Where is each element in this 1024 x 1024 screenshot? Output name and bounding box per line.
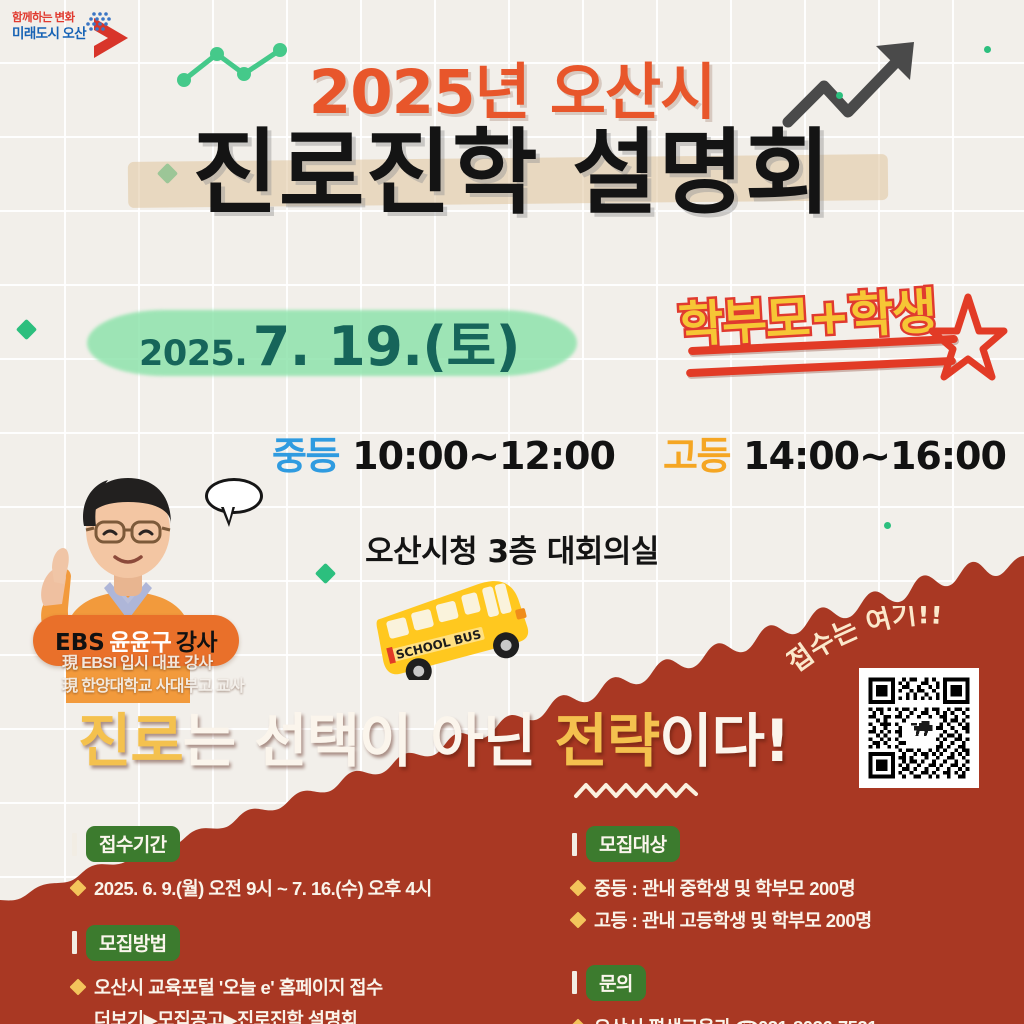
logo-tagline-2: 미래도시 오산 <box>12 26 86 42</box>
section-chip-label: 모집대상 <box>586 826 680 862</box>
session-high-school: 고등 14:00~16:00 <box>663 437 1006 475</box>
section-accent-bar <box>572 833 577 856</box>
lecturer-credential-line: 現 EBSI 입시 대표 강사 <box>62 652 244 675</box>
slogan-part-4: 이다! <box>659 707 789 775</box>
info-contact-text: 오산시 평생교육과 ☎031-8036-7531 <box>594 1014 877 1024</box>
info-column-left: 접수기간 2025. 6. 9.(월) 오전 9시 ~ 7. 16.(수) 오후… <box>72 826 542 1024</box>
lecturer-credential-line: 現 한양대학교 사대부고 교사 <box>62 675 244 698</box>
info-bullet-row: 2025. 6. 9.(월) 오전 9시 ~ 7. 16.(수) 오후 4시 <box>72 875 542 903</box>
date-month-day: 7. 19.(토) <box>253 315 520 378</box>
info-bullet-row: 오산시 교육포털 '오늘 e' 홈페이지 접수 <box>72 974 542 1002</box>
info-bullet-row: 고등 : 관내 고등학생 및 학부모 200명 <box>572 907 1012 935</box>
qr-call-to-action: 접수는 여기!! <box>786 606 1006 674</box>
section-header-registration-period: 접수기간 <box>72 826 542 862</box>
poster-title-block: 2025년 오산시 진로진학 설명회 <box>0 62 1024 222</box>
audience-badge: 학부모+학생 <box>666 275 996 390</box>
session-time-value: 14:00~16:00 <box>743 434 1006 478</box>
section-chip-label: 모집방법 <box>86 925 180 961</box>
title-main-line: 진로진학 설명회 <box>0 126 1024 222</box>
diamond-bullet-icon <box>70 978 87 995</box>
dinosaur-icon <box>906 719 936 741</box>
badge-underline <box>686 357 956 377</box>
slogan-part-3: 전략 <box>554 707 659 775</box>
info-column-right: 모집대상 중등 : 관내 중학생 및 학부모 200명 고등 : 관내 고등학생… <box>572 826 1012 1024</box>
section-header-application-method: 모집방법 <box>72 925 542 961</box>
section-chip-label: 문의 <box>586 965 646 1001</box>
squiggle-underline-decoration <box>573 780 703 802</box>
section-header-target-audience: 모집대상 <box>572 826 1012 862</box>
info-bullet-text: 중등 : 관내 중학생 및 학부모 200명 <box>594 875 855 903</box>
diamond-bullet-icon <box>70 880 87 897</box>
session-level-label: 고등 <box>663 434 730 478</box>
green-dot-decoration <box>984 46 991 53</box>
logo-tagline-1: 함께하는 변화 <box>12 12 86 26</box>
section-accent-bar <box>72 833 77 856</box>
info-bullet-text: 오산시 교육포털 '오늘 e' 홈페이지 접수 <box>94 974 383 1002</box>
date-year: 2025. <box>139 334 247 374</box>
venue-text: 오산시청 3층 대회의실 <box>0 526 1024 571</box>
info-bullet-text: 2025. 6. 9.(월) 오전 9시 ~ 7. 16.(수) 오후 4시 <box>94 875 432 903</box>
event-date: 2025. 7. 19.(토) <box>105 302 526 386</box>
session-time-value: 10:00~12:00 <box>352 434 615 478</box>
diamond-bullet-icon <box>570 880 587 897</box>
speech-bubble-icon <box>205 478 263 514</box>
slogan-part-1: 진로 <box>78 707 183 775</box>
event-poster: 함께하는 변화 미래도시 오산 2025년 오산시 진로진학 설명회 2025.… <box>0 0 1024 1024</box>
section-accent-bar <box>572 971 577 994</box>
info-bullet-text: 고등 : 관내 고등학생 및 학부모 200명 <box>594 907 872 935</box>
section-accent-bar <box>72 931 77 954</box>
city-logo: 함께하는 변화 미래도시 오산 <box>10 8 145 60</box>
info-bullet-row: 중등 : 관내 중학생 및 학부모 200명 <box>572 875 1012 903</box>
diamond-bullet-icon <box>570 911 587 928</box>
diamond-bullet-icon <box>570 1018 587 1024</box>
section-header-inquiry: 문의 <box>572 965 1012 1001</box>
section-chip-label: 접수기간 <box>86 826 180 862</box>
slogan-part-2: 는 선택이 아닌 <box>183 707 555 775</box>
session-level-label: 중등 <box>272 434 339 478</box>
session-middle-school: 중등 10:00~12:00 <box>272 437 615 475</box>
red-star-decoration <box>926 291 1008 381</box>
qr-code-icon[interactable] <box>859 668 979 788</box>
lecturer-credentials: 現 EBSI 입시 대표 강사 現 한양대학교 사대부고 교사 <box>62 652 244 698</box>
info-subline-text: 더보기▶모집공고▶진로진학 설명회 <box>72 1006 542 1024</box>
poster-slogan: 진로는 선택이 아닌 전략이다! <box>78 712 789 770</box>
title-year-line: 2025년 오산시 <box>0 62 1024 124</box>
school-bus-icon: SCHOOL BUS <box>370 580 550 680</box>
info-bullet-row: 오산시 평생교육과 ☎031-8036-7531 <box>572 1014 1012 1024</box>
